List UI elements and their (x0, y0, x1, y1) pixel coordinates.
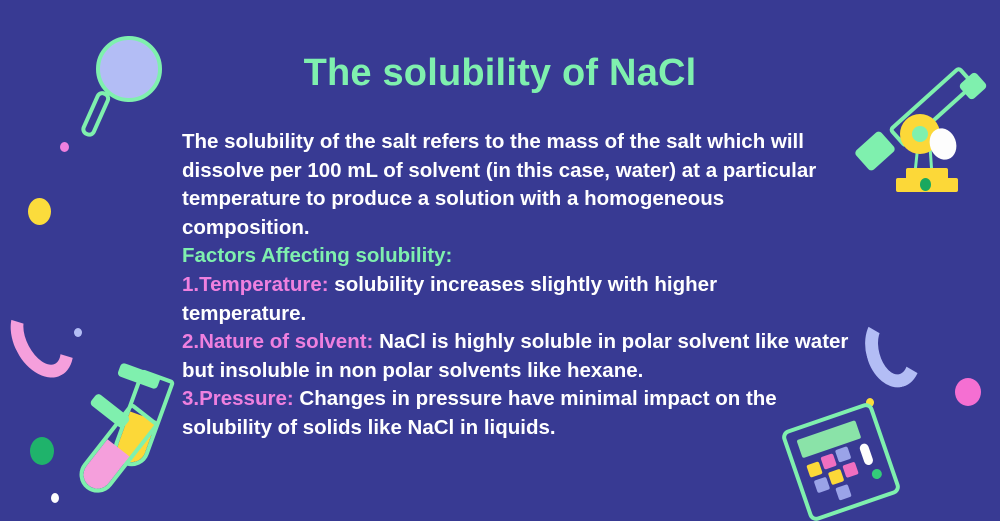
telescope-base-dot (920, 178, 931, 191)
calculator-key (806, 461, 823, 478)
white-dot-decoration (51, 493, 59, 503)
calculator-power-dot (870, 468, 883, 481)
calculator-key (835, 484, 852, 501)
slide-canvas: The solubility of NaCl The solubility of… (0, 0, 1000, 521)
pink-dot-small-decoration (60, 142, 69, 152)
calculator-key (842, 462, 859, 479)
calculator-key (814, 477, 831, 494)
magnifier-handle (79, 89, 112, 139)
factor-text: NaCl is highly soluble in polar solvent … (373, 330, 848, 353)
factor-item-temperature-cont: temperature. (182, 300, 872, 329)
factor-text: solubility increases slightly with highe… (329, 273, 717, 296)
factor-label: 3.Pressure: (182, 387, 294, 410)
calculator-key (828, 469, 845, 486)
periwinkle-dot-left-decoration (74, 328, 82, 337)
factor-text: Changes in pressure have minimal impact … (294, 387, 777, 410)
paragraph-line: temperature to produce a solution with a… (182, 185, 872, 214)
telescope-icon (856, 78, 996, 203)
factor-item-nature-of-solvent-cont: but insoluble in non polar solvents like… (182, 357, 872, 386)
green-ellipse-decoration (30, 437, 54, 465)
telescope-knob-center (912, 126, 928, 142)
paragraph-line: The solubility of the salt refers to the… (182, 128, 872, 157)
factor-item-pressure: 3.Pressure: Changes in pressure have min… (182, 385, 872, 414)
calculator-key (835, 446, 852, 463)
calculator-key (820, 453, 837, 470)
factor-item-pressure-cont: solubility of solids like NaCl in liquid… (182, 414, 872, 443)
factor-item-temperature: 1.Temperature: solubility increases slig… (182, 271, 872, 300)
pink-crescent-decoration (0, 290, 86, 389)
pink-ellipse-decoration (955, 378, 981, 406)
body-text-block: The solubility of the salt refers to the… (182, 128, 872, 443)
factor-label: 1.Temperature: (182, 273, 329, 296)
calculator-enter-key (859, 442, 875, 466)
page-title: The solubility of NaCl (0, 52, 1000, 95)
factor-item-nature-of-solvent: 2.Nature of solvent: NaCl is highly solu… (182, 328, 872, 357)
pink-test-tube-liquid (78, 439, 130, 494)
factors-heading: Factors Affecting solubility: (182, 242, 872, 271)
factor-label: 2.Nature of solvent: (182, 330, 373, 353)
paragraph-line: dissolve per 100 mL of solvent (in this … (182, 157, 872, 186)
yellow-ellipse-decoration (28, 198, 51, 225)
paragraph-line: composition. (182, 214, 872, 243)
